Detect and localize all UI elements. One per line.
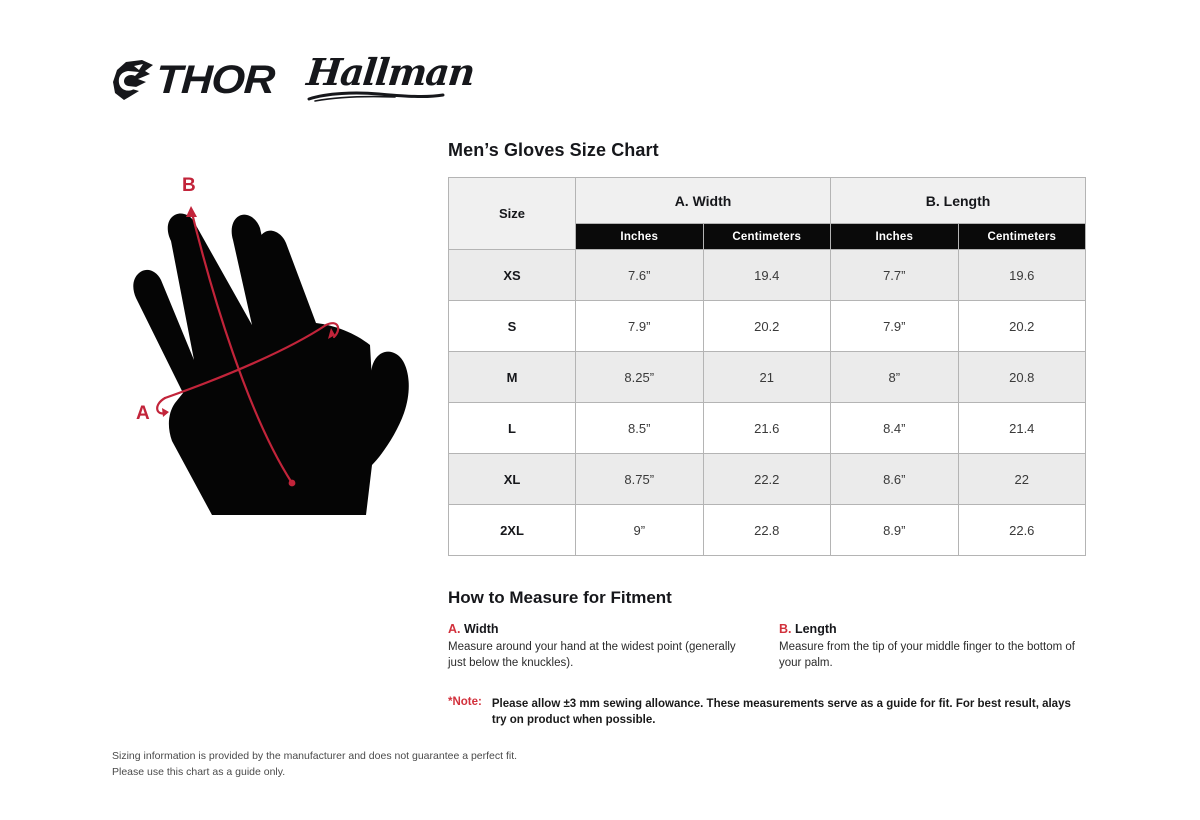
cell-length-centimeters: 22 [958, 454, 1086, 505]
cell-length-inches: 8” [831, 352, 959, 403]
chart-content: Men’s Gloves Size Chart Size A. Width B.… [448, 140, 1088, 728]
cell-size: XS [449, 250, 576, 301]
footer-line-2: Please use this chart as a guide only. [112, 764, 517, 780]
note-label: *Note: [448, 696, 482, 709]
measure-description-length: Measure from the tip of your middle fing… [779, 639, 1084, 672]
cell-length-inches: 8.6” [831, 454, 959, 505]
thor-logo: THOR [112, 58, 265, 102]
cell-length-centimeters: 19.6 [958, 250, 1086, 301]
measure-letter-a: A. [448, 622, 461, 636]
measure-item-width: A. Width Measure around your hand at the… [448, 622, 753, 672]
table-row: L 8.5” 21.6 8.4” 21.4 [449, 403, 1086, 454]
cell-width-centimeters: 19.4 [703, 250, 831, 301]
thor-wordmark: THOR [155, 60, 275, 100]
page-title: Men’s Gloves Size Chart [448, 140, 1088, 161]
brand-logo-bar: THOR Hallman [112, 52, 474, 108]
measure-item-heading: B. Length [779, 622, 1084, 636]
footer-line-1: Sizing information is provided by the ma… [112, 748, 517, 764]
cell-length-centimeters: 22.6 [958, 505, 1086, 556]
cell-width-inches: 9” [576, 505, 704, 556]
column-header-size: Size [449, 178, 576, 250]
cell-length-centimeters: 20.8 [958, 352, 1086, 403]
hallman-wordmark: Hallman [305, 54, 475, 91]
hand-measurement-diagram: B A [120, 165, 440, 535]
how-to-measure-title: How to Measure for Fitment [448, 588, 1088, 608]
table-row: S 7.9” 20.2 7.9” 20.2 [449, 301, 1086, 352]
measure-item-heading: A. Width [448, 622, 753, 636]
column-group-header-length: B. Length [831, 178, 1086, 224]
table-row: M 8.25” 21 8” 20.8 [449, 352, 1086, 403]
how-to-measure-columns: A. Width Measure around your hand at the… [448, 622, 1088, 672]
table-row: XS 7.6” 19.4 7.7” 19.6 [449, 250, 1086, 301]
cell-width-centimeters: 21 [703, 352, 831, 403]
cell-size: XL [449, 454, 576, 505]
measure-letter-b: B. [779, 622, 792, 636]
cell-length-centimeters: 21.4 [958, 403, 1086, 454]
table-row: 2XL 9” 22.8 8.9” 22.6 [449, 505, 1086, 556]
column-header-width-inches: Inches [576, 224, 704, 250]
footer-disclaimer: Sizing information is provided by the ma… [112, 748, 517, 781]
measure-item-length: B. Length Measure from the tip of your m… [779, 622, 1084, 672]
cell-length-inches: 8.9” [831, 505, 959, 556]
cell-width-inches: 8.25” [576, 352, 704, 403]
cell-length-centimeters: 20.2 [958, 301, 1086, 352]
cell-size: S [449, 301, 576, 352]
cell-width-inches: 8.5” [576, 403, 704, 454]
cell-size: L [449, 403, 576, 454]
cell-length-inches: 8.4” [831, 403, 959, 454]
diagram-label-a: A [136, 403, 150, 424]
column-header-length-centimeters: Centimeters [958, 224, 1086, 250]
diagram-label-b: B [182, 175, 196, 196]
cell-width-inches: 8.75” [576, 454, 704, 505]
measure-name-length: Length [792, 622, 837, 636]
size-chart-page: THOR Hallman [0, 0, 1200, 820]
cell-width-inches: 7.6” [576, 250, 704, 301]
cell-size: M [449, 352, 576, 403]
cell-width-inches: 7.9” [576, 301, 704, 352]
hallman-logo: Hallman [307, 54, 474, 107]
table-header-row-groups: Size A. Width B. Length [449, 178, 1086, 224]
cell-length-inches: 7.7” [831, 250, 959, 301]
column-header-width-centimeters: Centimeters [703, 224, 831, 250]
measure-description-width: Measure around your hand at the widest p… [448, 639, 753, 672]
cell-width-centimeters: 22.8 [703, 505, 831, 556]
cell-width-centimeters: 22.2 [703, 454, 831, 505]
thor-helmet-icon [112, 58, 154, 102]
cell-width-centimeters: 20.2 [703, 301, 831, 352]
hand-silhouette-icon [133, 213, 408, 515]
size-chart-table: Size A. Width B. Length Inches Centimete… [448, 177, 1086, 556]
cell-width-centimeters: 21.6 [703, 403, 831, 454]
measure-name-width: Width [461, 622, 499, 636]
column-header-length-inches: Inches [831, 224, 959, 250]
table-row: XL 8.75” 22.2 8.6” 22 [449, 454, 1086, 505]
cell-size: 2XL [449, 505, 576, 556]
cell-length-inches: 7.9” [831, 301, 959, 352]
note-row: *Note: Please allow ±3 mm sewing allowan… [448, 696, 1088, 729]
column-group-header-width: A. Width [576, 178, 831, 224]
note-text: Please allow ±3 mm sewing allowance. The… [492, 696, 1082, 729]
